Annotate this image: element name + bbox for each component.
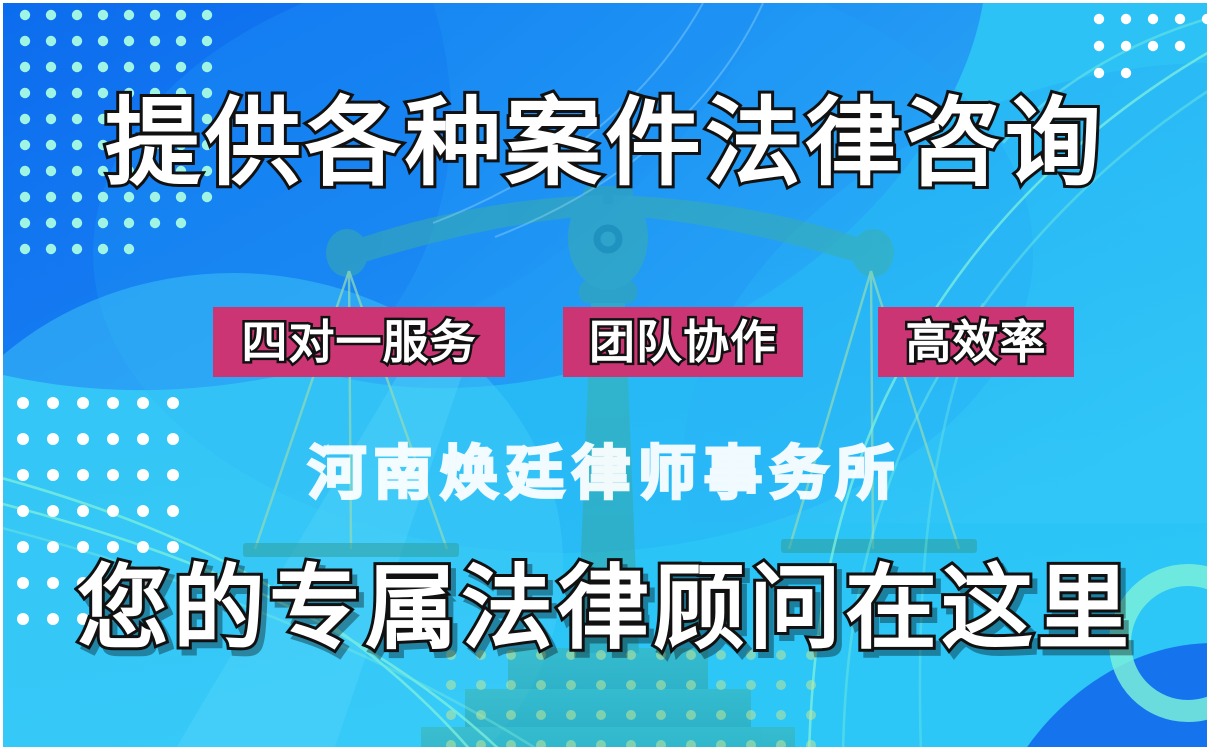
decorative-dot: [137, 541, 149, 553]
decorative-dot: [150, 36, 160, 46]
decorative-dot: [626, 680, 636, 690]
decorative-dot: [446, 710, 456, 720]
feature-badge-label: 高效率: [906, 319, 1047, 365]
decorative-dot: [1175, 14, 1185, 24]
decorative-dot: [776, 710, 786, 720]
decorative-dot: [47, 541, 59, 553]
decorative-dot: [536, 710, 546, 720]
decorative-dot: [776, 680, 786, 690]
decorative-dot: [167, 397, 179, 409]
decorative-dot: [656, 710, 666, 720]
decorative-dot: [17, 397, 29, 409]
decorative-dot: [1094, 41, 1104, 51]
decorative-dot: [107, 505, 119, 517]
decorative-dot: [202, 62, 212, 72]
decorative-dot: [124, 218, 134, 228]
arm-knob-left: [326, 229, 368, 277]
decorative-dot: [46, 244, 56, 254]
law-firm-promo-banner: 提供各种案件法律咨询 四对一服务 团队协作 高效率 河南焕廷律师事务所 您的专属…: [0, 0, 1210, 750]
decorative-dot: [202, 10, 212, 20]
decorative-dot: [150, 62, 160, 72]
decorative-dot: [476, 710, 486, 720]
decorative-dot: [167, 505, 179, 517]
decorative-dot: [137, 397, 149, 409]
feature-badge-label: 团队协作: [589, 319, 777, 365]
feature-badge-high-efficiency[interactable]: 高效率: [878, 307, 1074, 377]
decorative-dot: [46, 62, 56, 72]
decorative-dot: [596, 710, 606, 720]
decorative-dot: [566, 710, 576, 720]
decorative-dot: [167, 541, 179, 553]
decorative-dot: [806, 680, 816, 690]
decorative-dot: [77, 397, 89, 409]
decorative-dot: [150, 10, 160, 20]
decorative-dot: [20, 218, 30, 228]
decorative-dot: [72, 36, 82, 46]
decorative-dot: [47, 505, 59, 517]
decorative-dot: [176, 10, 186, 20]
decorative-dot: [446, 680, 456, 690]
decorative-dot: [98, 10, 108, 20]
headline-primary: 提供各种案件法律咨询: [3, 91, 1207, 195]
decorative-dot: [20, 36, 30, 46]
decorative-dot: [98, 62, 108, 72]
decorative-dot: [124, 10, 134, 20]
decorative-dot: [46, 36, 56, 46]
feature-badge-label: 四对一服务: [242, 319, 477, 365]
decorative-dot: [746, 710, 756, 720]
decorative-dot: [596, 680, 606, 690]
pan-right: [781, 539, 977, 553]
decorative-dot: [17, 541, 29, 553]
decorative-dot: [72, 244, 82, 254]
decorative-dot: [72, 62, 82, 72]
decorative-dot: [46, 218, 56, 228]
decorative-dot: [124, 244, 134, 254]
decorative-dot: [202, 36, 212, 46]
arm-knob-right: [852, 229, 894, 277]
decorative-dot: [536, 680, 546, 690]
base-tier-mid: [465, 689, 751, 731]
decorative-dot: [1121, 14, 1131, 24]
decorative-dot: [476, 680, 486, 690]
decorative-dot: [72, 218, 82, 228]
decorative-dot: [1121, 41, 1131, 51]
decorative-dot: [716, 710, 726, 720]
decorative-dot: [150, 218, 160, 228]
feature-badge-team-collaboration[interactable]: 团队协作: [563, 307, 803, 377]
decorative-dot: [686, 710, 696, 720]
decorative-dot: [124, 62, 134, 72]
decorative-dot: [46, 10, 56, 20]
decorative-dot: [1175, 41, 1185, 51]
decorative-dot: [626, 710, 636, 720]
decorative-dot: [77, 505, 89, 517]
decorative-dot: [746, 680, 756, 690]
decorative-dot: [806, 710, 816, 720]
decorative-dot: [506, 710, 516, 720]
firm-name-watermark: 河南焕廷律师事务所: [3, 441, 1207, 505]
decorative-dot: [20, 62, 30, 72]
decorative-dot: [20, 10, 30, 20]
decorative-dot: [176, 62, 186, 72]
decorative-dot: [1148, 41, 1158, 51]
decorative-dot: [17, 505, 29, 517]
decorative-dot: [1121, 68, 1131, 78]
decorative-dot: [686, 680, 696, 690]
decorative-dot: [716, 680, 726, 690]
decorative-dot: [72, 10, 82, 20]
decorative-dot: [566, 680, 576, 690]
decorative-dot: [1094, 14, 1104, 24]
decorative-dot: [1094, 68, 1104, 78]
decorative-dot: [176, 36, 186, 46]
decorative-dot: [1148, 14, 1158, 24]
decorative-dot: [506, 680, 516, 690]
decorative-dot: [98, 244, 108, 254]
decorative-dot: [176, 218, 186, 228]
decorative-dot: [98, 36, 108, 46]
decorative-dot: [656, 680, 666, 690]
decorative-dot: [20, 244, 30, 254]
headline-secondary: 您的专属法律顾问在这里: [3, 559, 1207, 659]
decorative-dot: [137, 505, 149, 517]
decorative-dot: [47, 397, 59, 409]
decorative-dot: [107, 541, 119, 553]
decorative-dot: [107, 397, 119, 409]
decorative-dot: [124, 36, 134, 46]
decorative-dot: [98, 218, 108, 228]
feature-badge-one-to-four-service[interactable]: 四对一服务: [213, 307, 505, 377]
decorative-dot: [77, 541, 89, 553]
